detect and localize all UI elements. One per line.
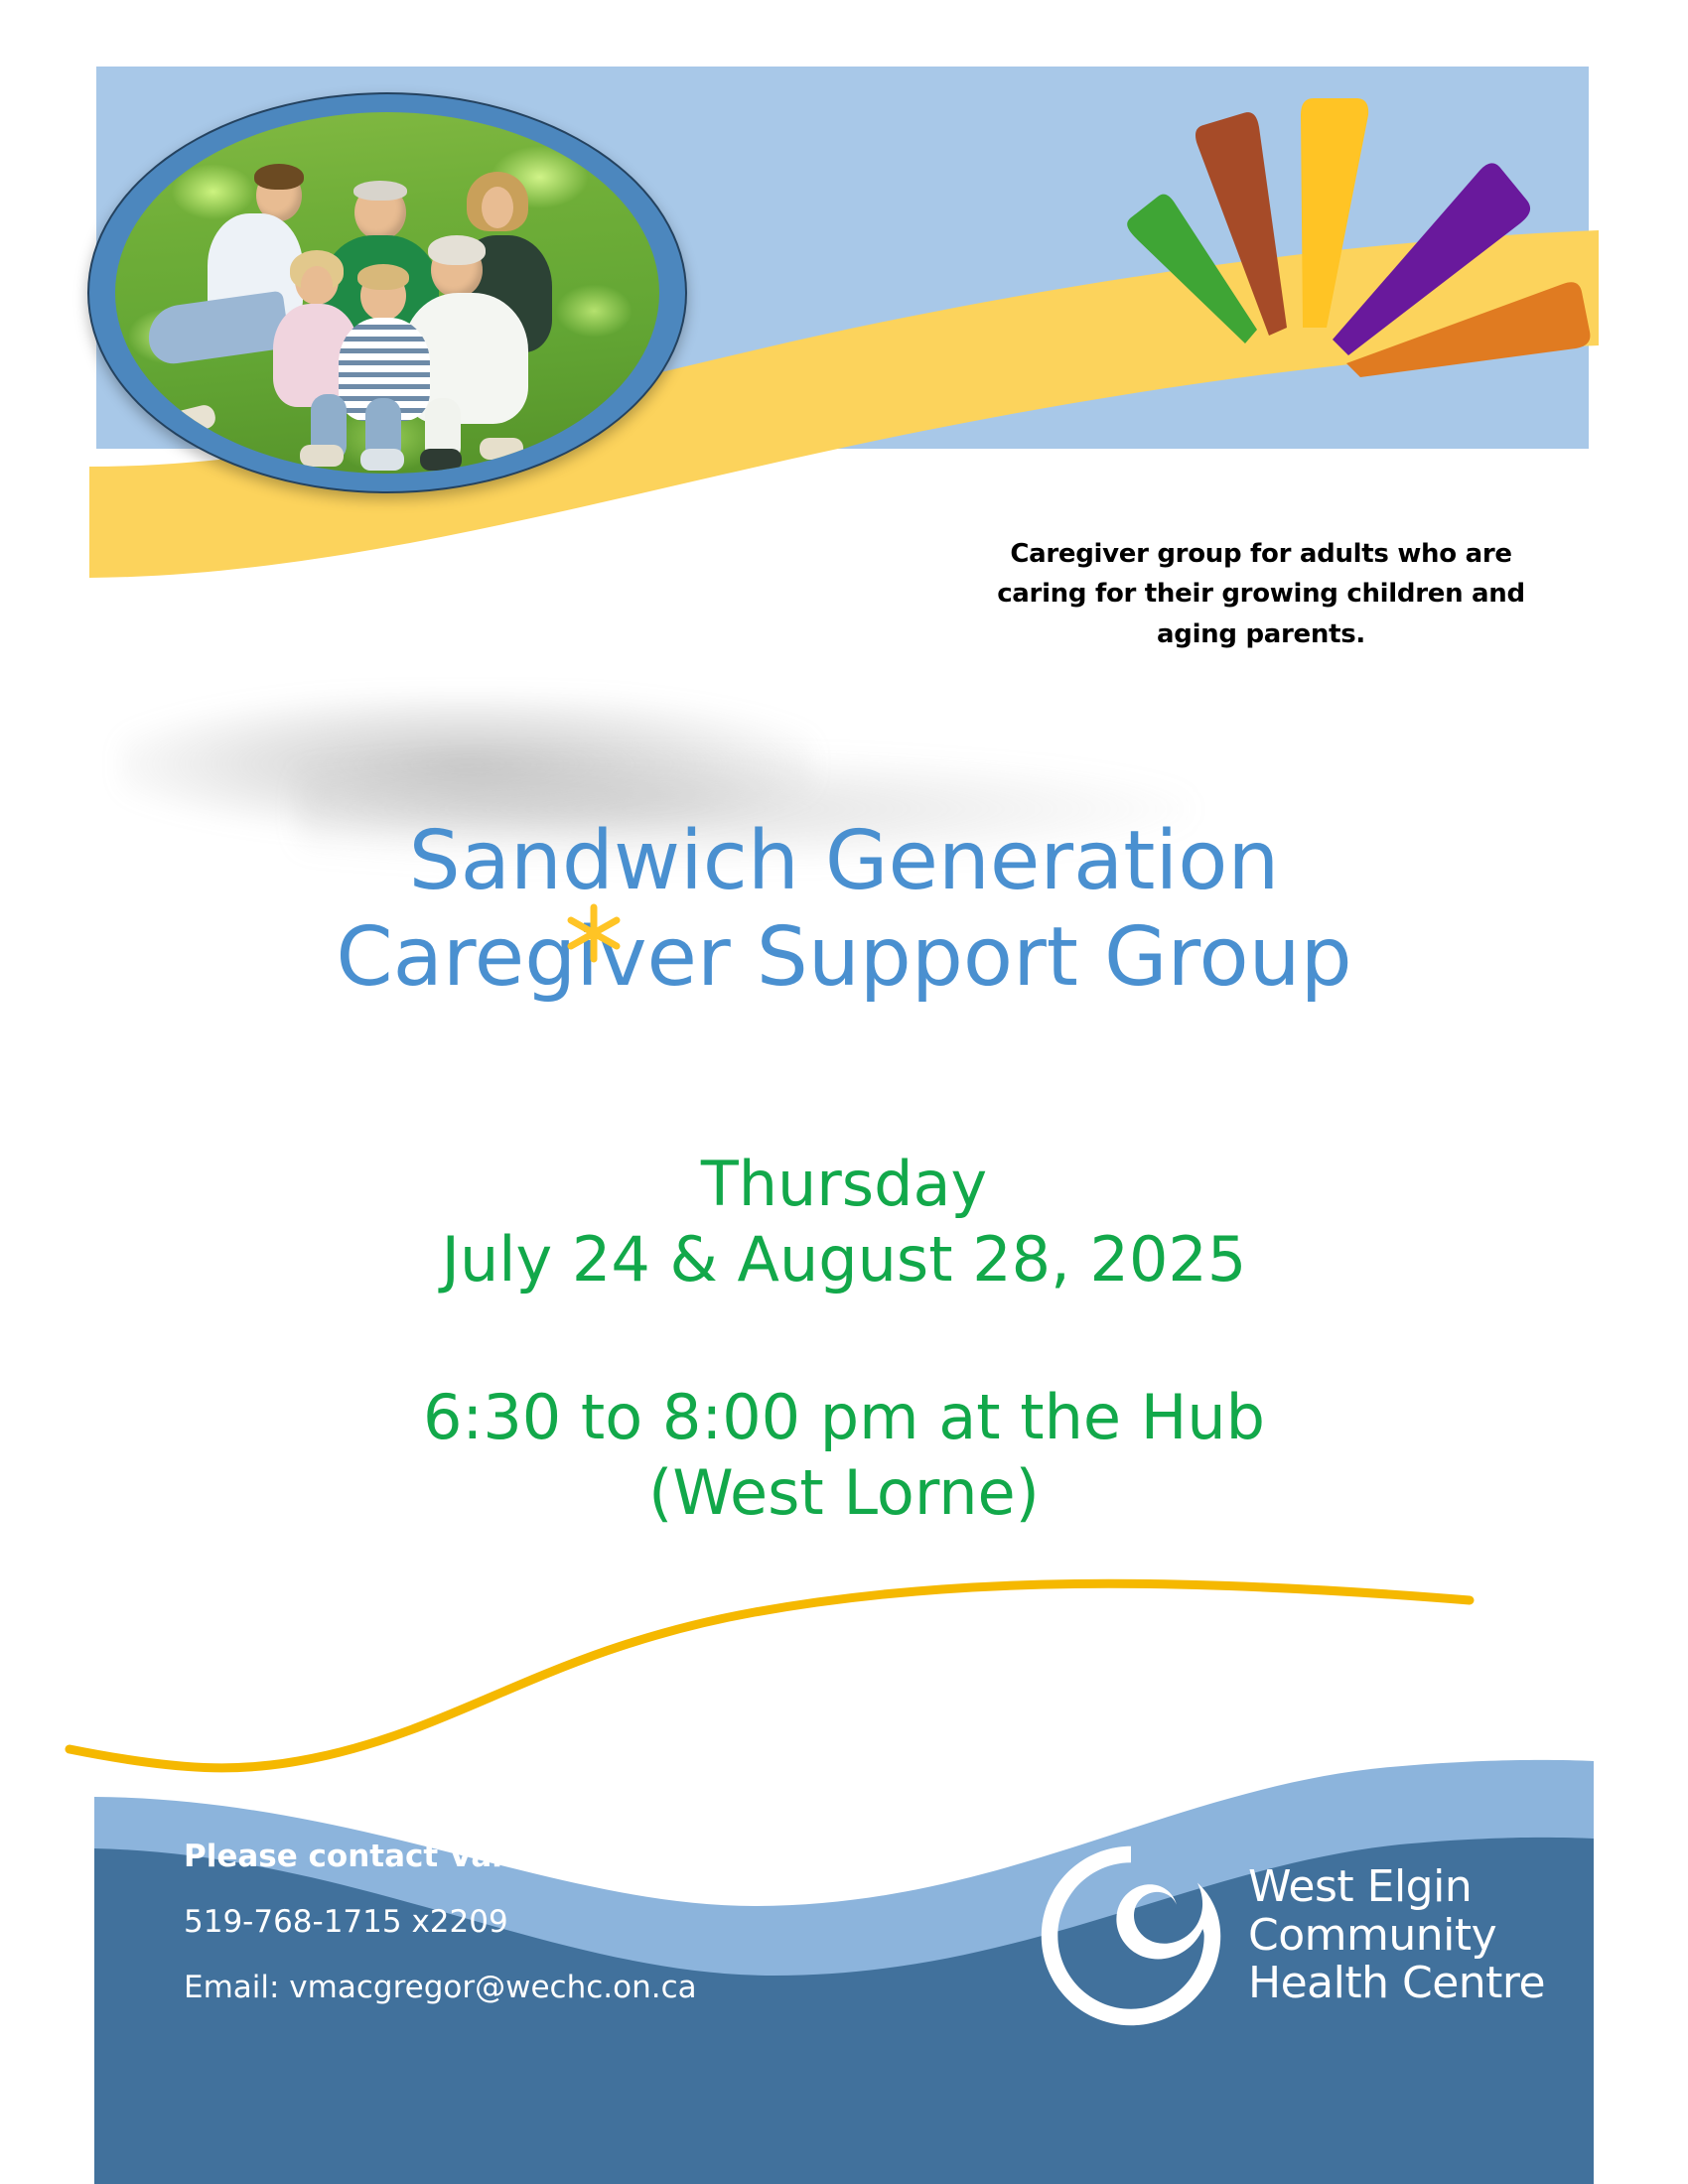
shoe-c	[420, 449, 462, 471]
event-spacer	[0, 1297, 1688, 1380]
shoe-d	[480, 438, 523, 460]
footer-gold-curve-icon	[70, 1583, 1470, 1768]
tagline: Caregiver group for adults who are carin…	[953, 534, 1569, 654]
logo-line-1: West Elgin	[1248, 1863, 1545, 1911]
page-title: Sandwich Generation Caregiver Support Gr…	[0, 814, 1688, 1007]
event-time-location: 6:30 to 8:00 pm at the Hub	[0, 1380, 1688, 1455]
asterisk-icon	[564, 903, 624, 963]
person-boy-head	[360, 271, 406, 321]
flyer-page: Caregiver group for adults who are carin…	[0, 0, 1688, 2184]
person-mother-head	[475, 178, 520, 231]
tagline-line-2: caring for their growing children and	[953, 574, 1569, 614]
shoe-a	[300, 445, 344, 467]
event-details: Thursday July 24 & August 28, 2025 6:30 …	[0, 1147, 1688, 1531]
contact-name: Please contact Valerie MacGregor, RP	[184, 1842, 958, 1872]
person-girl-head	[295, 257, 339, 305]
event-day: Thursday	[0, 1147, 1688, 1222]
contact-info: Please contact Valerie MacGregor, RP 519…	[184, 1842, 958, 2003]
logo-line-3: Health Centre	[1248, 1960, 1545, 2007]
contact-email: Email: vmacgregor@wechc.on.ca	[184, 1973, 958, 2003]
organization-logo: West Elgin Community Health Centre	[1038, 1837, 1564, 2035]
tagline-line-1: Caregiver group for adults who are	[953, 534, 1569, 574]
color-fan-icon	[983, 79, 1599, 407]
shoe-e	[168, 403, 217, 437]
shoe-b	[360, 449, 404, 471]
tagline-line-3: aging parents.	[953, 614, 1569, 654]
family-photo-oval	[87, 92, 687, 493]
event-venue: (West Lorne)	[0, 1455, 1688, 1531]
person-grandfather-head	[354, 185, 406, 240]
title-line-2: Caregiver Support Group	[0, 910, 1688, 1007]
title-line-1: Sandwich Generation	[0, 814, 1688, 910]
person-father-legs	[145, 291, 291, 367]
family-photo	[115, 112, 659, 474]
logo-line-2: Community	[1248, 1912, 1545, 1960]
event-dates: July 24 & August 28, 2025	[0, 1222, 1688, 1297]
logo-wordmark: West Elgin Community Health Centre	[1248, 1863, 1545, 2007]
contact-phone: 519-768-1715 x2209	[184, 1907, 958, 1938]
wechc-swirl-icon	[1038, 1843, 1224, 2029]
person-grandmother-head	[431, 242, 483, 298]
